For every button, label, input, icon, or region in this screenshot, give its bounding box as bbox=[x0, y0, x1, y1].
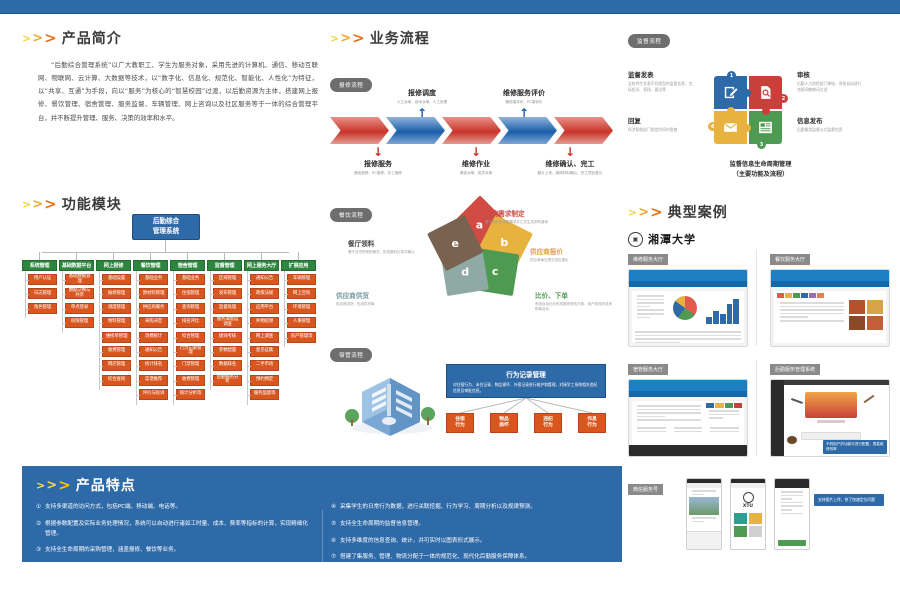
tree-item[interactable]: 数据排名 bbox=[213, 360, 242, 371]
case-tag-4: 后勤服务管理系统 bbox=[770, 364, 820, 375]
tree-item[interactable]: 人事管理 bbox=[287, 317, 316, 328]
flow-bottom-title-3: 维修确认、完工 bbox=[520, 159, 620, 169]
wechat-phone-1[interactable] bbox=[686, 478, 722, 550]
petal-title-b: 供应商报价 bbox=[530, 246, 608, 256]
tree-column-items: 用户认证日志管理角色管理 bbox=[28, 274, 57, 317]
tree-item[interactable]: 权限管理 bbox=[65, 317, 94, 328]
wechat-callout: 支持图片上传，修了快速定位问题 bbox=[814, 494, 884, 506]
feature-text: 根据参数配置及实际业务处理情况，系统可以自动进行诸如工时量、成本、费率等指标的计… bbox=[45, 520, 313, 540]
tree-root-line1: 后勤综合 bbox=[153, 217, 179, 227]
dorm-connector-lines bbox=[446, 398, 606, 414]
section-heading-cases: >>> 典型案例 bbox=[628, 202, 890, 222]
supervision-caption: 监督信息生命周期管理 （主要功能及流程） bbox=[628, 160, 893, 180]
wechat-phone-2[interactable]: XTU bbox=[730, 478, 766, 550]
feature-item: ⑥支持多维度的信息查询、统计，并可实时以图表形式展示。 bbox=[331, 537, 608, 547]
case-screenshot-3[interactable] bbox=[628, 379, 748, 457]
case-cell-1[interactable]: 维修服务大厅 bbox=[628, 246, 748, 347]
supervision-caption-1: 监督信息生命周期管理 bbox=[628, 160, 893, 170]
tree-item[interactable]: 角色管理 bbox=[28, 303, 57, 314]
flow-bottom-step-3: ↓ 维修确认、完工 照片上传、维修材料确认、完工项目登记 bbox=[520, 146, 620, 176]
tree-item[interactable]: 通知公告 bbox=[250, 274, 279, 285]
feature-text: 支持全生命周期的采购管理，涵盖报修、餐饮等业务。 bbox=[45, 546, 179, 556]
case-screenshot-2[interactable] bbox=[770, 269, 890, 347]
tree-item[interactable]: 采购决定 bbox=[139, 317, 168, 328]
tree-column-head[interactable]: 网上报修 bbox=[96, 260, 131, 271]
flow-top-title-2: 维修服务评价 bbox=[478, 88, 570, 98]
feature-item: ⑤支持全生命周期的监督信息管理。 bbox=[331, 520, 608, 530]
supervision-title-4: 回复 bbox=[628, 116, 694, 125]
petal-sub-d: 供应商供货，形成供货单 bbox=[336, 302, 414, 307]
tree-column-head[interactable]: 基础数据平台 bbox=[59, 260, 94, 271]
supervision-section: 监督流程 bbox=[628, 28, 890, 48]
petal-shapes: abcde bbox=[425, 218, 535, 323]
flow-chevron-row bbox=[330, 117, 620, 144]
tree-column-head[interactable]: 餐饮管理 bbox=[133, 260, 168, 271]
tree-item[interactable]: 综合查询 bbox=[102, 375, 131, 386]
features-section: >>> 产品特点 ①支持多渠道的访问方式，包括PC端、移动端、电话等。②根据参数… bbox=[22, 466, 622, 562]
feature-number: ① bbox=[36, 503, 41, 513]
supervision-sub-4: 所涉职能部门规定时间内答复 bbox=[628, 127, 694, 133]
feature-number: ⑥ bbox=[331, 537, 336, 547]
page-title: 产品简介 bbox=[62, 28, 122, 48]
flow-bottom-sub-2: 微信派单、成员派单 bbox=[426, 171, 526, 176]
tree-item[interactable]: 服务满意度调查 bbox=[213, 317, 242, 328]
badge-supervision-flow: 监督流程 bbox=[628, 34, 670, 48]
wechat-brand: XTU bbox=[731, 504, 765, 509]
features-title: 产品特点 bbox=[76, 475, 136, 495]
petal-sub-c: 系统自动比价形成推荐采购方案，用户修改形成采购单自动 bbox=[535, 302, 613, 311]
tree-item[interactable]: 网上咨询 bbox=[287, 288, 316, 299]
tree-column-1: 系统管理用户认证日志管理角色管理 bbox=[22, 252, 57, 449]
dorm-flow-diagram: 宿管流程 行为记录管理 对住宿行为、未住记录、物品损坏、外宿记录进 bbox=[330, 342, 620, 447]
badge-catering-flow: 餐饮流程 bbox=[330, 208, 372, 222]
cases-title: 典型案例 bbox=[668, 202, 728, 222]
tree-item[interactable]: 单点登录 bbox=[65, 303, 94, 314]
repair-flow-diagram: 报修流程 报修调度 人工派单、自动派单、人工处理 ↑ 维修服务评价 微信端评价、… bbox=[330, 72, 620, 182]
flow-chevron-2 bbox=[386, 117, 445, 144]
tree-item[interactable]: 失物招领 bbox=[250, 317, 279, 328]
case-screenshot-grid: 维修服务大厅 餐饮服务大厅 bbox=[628, 246, 890, 466]
flow-bottom-sub-1: 微信报修、PC报修、手工报修 bbox=[328, 171, 428, 176]
tree-column-stem bbox=[261, 252, 262, 260]
features-divider bbox=[322, 510, 323, 598]
chevron-icon: >>> bbox=[22, 197, 57, 212]
supervision-title-1: 监督发表 bbox=[628, 70, 694, 79]
dorm-leaf-4[interactable]: 作息行为 bbox=[578, 413, 606, 433]
tree-item[interactable]: 绩效考核 bbox=[213, 332, 242, 343]
tree-item[interactable]: 意见征集 bbox=[250, 346, 279, 357]
petal-title-d: 供应商供货 bbox=[336, 290, 414, 300]
dorm-leaf-3[interactable]: 违纪行为 bbox=[534, 413, 562, 433]
petal-label-d: 供应商供货供应商供货，形成供货单 bbox=[336, 290, 414, 307]
petal-title-c: 比价、下单 bbox=[535, 290, 613, 300]
flow-top-sub-2: 微信端评价、PC端评价 bbox=[478, 100, 570, 105]
university-seal-icon: ▣ bbox=[628, 232, 643, 247]
tree-column-items: 基础设置报修管理调度管理物料管理维修单管理收费管理网店管理综合查询 bbox=[102, 274, 131, 389]
mail-icon bbox=[722, 119, 739, 136]
tree-column-stem bbox=[76, 252, 77, 260]
arrow-down-icon: ↓ bbox=[426, 146, 526, 158]
university-logo: ▣ 湘潭大学 bbox=[628, 231, 890, 247]
dorm-record-box: 行为记录管理 对住宿行为、未住记录、物品损坏、外宿记录进行维护和管理，对接学工系… bbox=[446, 364, 606, 398]
tree-item[interactable]: 排名评比 bbox=[176, 317, 205, 328]
tree-column-head[interactable]: 网上服务大厅 bbox=[244, 260, 279, 271]
supervision-sub-3: 后勤服务监督公式监督信息 bbox=[797, 127, 863, 133]
supervision-text-1: 监督发表 全校师生发表不同类型的监督信息，包括投诉、表扬、建议等 bbox=[628, 70, 694, 92]
tree-item[interactable]: 基础业务 bbox=[176, 274, 205, 285]
building-illustration bbox=[342, 364, 437, 436]
case-cell-3[interactable]: 宿管服务大厅 bbox=[628, 356, 748, 457]
tree-column-4: 餐饮管理基础业务原材料管理供应商服务采购决定消费统计通知公告统计排名菜谱推荐评价… bbox=[133, 252, 168, 449]
cases-section: >>> 典型案例 ▣ 湘潭大学 bbox=[628, 202, 890, 247]
puzzle-number-2: 2 bbox=[779, 94, 788, 103]
tree-column-spine bbox=[210, 271, 211, 390]
process-section: >>> 业务流程 bbox=[330, 28, 620, 48]
tree-column-7: 网上服务大厅通知公告政策法规应用平台失物招领网上调查意见征集二手市场预约预定服务… bbox=[244, 252, 279, 449]
puzzle-number-3: 3 bbox=[757, 140, 766, 149]
arrow-down-icon: ↓ bbox=[520, 146, 620, 158]
petal-label-a: 采购需求制定餐厅按科定采购需求并汇总生成采购清单 bbox=[485, 208, 563, 225]
dorm-leaf-2[interactable]: 物品损坏 bbox=[490, 413, 518, 433]
tree-item[interactable]: 基础设置 bbox=[102, 274, 131, 285]
supervision-sub-2: 后勤人力质检部门审核，系统自动进行违规词敏感词过滤 bbox=[797, 81, 863, 92]
feature-item: ②根据参数配置及实际业务处理情况，系统可以自动进行诸如工时量、成本、费率等指标的… bbox=[36, 520, 313, 540]
supervision-text-2: 审核 后勤人力质检部门审核，系统自动进行违规词敏感词过滤 bbox=[797, 70, 863, 92]
tree-item[interactable]: 网店管理 bbox=[102, 360, 131, 371]
feature-text: 支持多渠道的访问方式，包括PC端、移动端、电话等。 bbox=[45, 503, 181, 513]
tree-root-node: 后勤综合 管理系统 bbox=[132, 214, 200, 240]
feature-text: 采集学生的日常行为数据，进行关联挖掘、行为学习、周期分析以及规律预测。 bbox=[340, 503, 536, 513]
tree-column-items: 基础数据管理数据交换与共享单点登录权限管理 bbox=[65, 274, 94, 332]
flow-top-step-1: 报修调度 人工派单、自动派单、人工处理 ↑ bbox=[376, 88, 468, 119]
petal-sub-a: 餐厅按科定采购需求并汇总生成采购清单 bbox=[485, 220, 563, 225]
chevron-icon: >>> bbox=[330, 31, 365, 46]
dorm-leaf-1[interactable]: 住宿行为 bbox=[446, 413, 474, 433]
case-screenshot-1[interactable] bbox=[628, 269, 748, 347]
tree-item[interactable]: 物料管理 bbox=[102, 317, 131, 328]
tree-item[interactable]: 监督处理 bbox=[213, 303, 242, 314]
supervision-title-2: 审核 bbox=[797, 70, 863, 79]
feature-number: ③ bbox=[36, 546, 41, 556]
flow-top-step-2: 维修服务评价 微信端评价、PC端评价 ↑ bbox=[478, 88, 570, 119]
tree-column-stem bbox=[113, 252, 114, 260]
flow-chevron-4 bbox=[498, 117, 557, 144]
tree-column-stem bbox=[39, 252, 40, 260]
chevron-icon: >>> bbox=[22, 31, 57, 46]
grid-divider-vertical-top bbox=[756, 250, 757, 346]
supervision-sub-1: 全校师生发表不同类型的监督信息，包括投诉、表扬、建议等 bbox=[628, 81, 694, 92]
feature-number: ② bbox=[36, 520, 41, 540]
supervision-text-3: 信息发布 后勤服务监督公式监督信息 bbox=[797, 116, 863, 133]
intro-paragraph: “后勤综合管理系统”以广大教职工、学生为服务对象，采用先进的计算机、通信、移动互… bbox=[22, 59, 322, 125]
modules-title: 功能模块 bbox=[62, 194, 122, 214]
tree-column-items: 通知公告政策法规应用平台失物招领网上调查意见征集二手市场预约预定服务监督等 bbox=[250, 274, 279, 404]
tree-root-line2: 管理系统 bbox=[153, 227, 179, 237]
pencil-icon bbox=[722, 84, 739, 101]
section-heading-modules: >>> 功能模块 bbox=[22, 194, 122, 214]
tree-item[interactable]: 调度管理 bbox=[102, 303, 131, 314]
poster-page: >>> 产品简介 “后勤综合管理系统”以广大教职工、学生为服务对象，采用先进的计… bbox=[0, 14, 900, 562]
tree-column-5: 宿舍管理基础业务住宿管理查询管理排名评比综合管理行为记录管理门禁管理收费管理统计… bbox=[170, 252, 205, 449]
puzzle-piece-3 bbox=[749, 111, 782, 144]
dorm-box-title: 行为记录管理 bbox=[453, 369, 599, 379]
case-callout-4: 不同用户的功能可进行配置，提高维修效率 bbox=[823, 440, 887, 454]
tree-item[interactable]: 预约预定 bbox=[250, 375, 279, 386]
flow-bottom-title-1: 报修服务 bbox=[328, 159, 428, 169]
tree-column-stem bbox=[298, 252, 299, 260]
tree-column-2: 基础数据平台基础数据管理数据交换与共享单点登录权限管理 bbox=[59, 252, 94, 449]
tree-item[interactable]: 菜谱推荐 bbox=[139, 375, 168, 386]
tree-column-3: 网上报修基础设置报修管理调度管理物料管理维修单管理收费管理网店管理综合查询 bbox=[96, 252, 131, 449]
tree-column-items: 区域管理发布管理监督处理服务满意度调查绩效考核参数配置数据排名后勤服务分析 bbox=[213, 274, 242, 389]
flow-bottom-sub-3: 照片上传、维修材料确认、完工项目登记 bbox=[520, 171, 620, 176]
tree-item[interactable]: 供应商服务 bbox=[139, 303, 168, 314]
wechat-section: 微信服务号 XTU bbox=[628, 476, 890, 556]
section-heading-intro: >>> 产品简介 bbox=[22, 28, 322, 48]
tree-item[interactable]: 后勤服务分析 bbox=[213, 375, 242, 386]
tree-item[interactable]: 基础业务 bbox=[139, 274, 168, 285]
tree-item[interactable]: 发布管理 bbox=[213, 288, 242, 299]
tree-item[interactable]: 统计排名 bbox=[139, 360, 168, 371]
tree-column-items: 基础业务住宿管理查询管理排名评比综合管理行为记录管理门禁管理收费管理统计分析等 bbox=[176, 274, 205, 404]
tree-item[interactable]: 收费管理 bbox=[176, 375, 205, 386]
tree-item[interactable]: 基础数据管理 bbox=[65, 274, 94, 285]
case-tag-2: 餐饮服务大厅 bbox=[770, 254, 810, 265]
puzzle-knob-top-4 bbox=[727, 107, 735, 115]
feature-item: ③支持全生命周期的采购管理，涵盖报修、餐饮等业务。 bbox=[36, 546, 313, 556]
features-column-right: ④采集学生的日常行为数据，进行关联挖掘、行为学习、周期分析以及规律预测。⑤支持全… bbox=[331, 503, 608, 570]
puzzle-knob-right-1 bbox=[743, 89, 751, 97]
case-tag-1: 维修服务大厅 bbox=[628, 254, 668, 265]
tree-root-stem bbox=[165, 240, 166, 252]
tree-item[interactable]: 日志管理 bbox=[28, 288, 57, 299]
flow-bottom-step-2: ↓ 维修作业 微信派单、成员派单 bbox=[426, 146, 526, 176]
puzzle-number-4: 4 bbox=[708, 122, 717, 131]
puzzle-knob-bottom-2 bbox=[762, 107, 770, 115]
tree-item[interactable]: 维修单管理 bbox=[102, 332, 131, 343]
case-screenshot-4[interactable]: 不同用户的功能可进行配置，提高维修效率 bbox=[770, 379, 890, 457]
tree-item[interactable]: 住宿管理 bbox=[176, 288, 205, 299]
tree-item[interactable]: 统计分析等 bbox=[176, 389, 205, 400]
intro-section: >>> 产品简介 “后勤综合管理系统”以广大教职工、学生为服务对象，采用先进的计… bbox=[22, 28, 322, 125]
flow-bottom-step-1: ↓ 报修服务 微信报修、PC报修、手工报修 bbox=[328, 146, 428, 176]
tree-item[interactable]: 评价与投诉 bbox=[139, 389, 168, 400]
tree-item[interactable]: 网上调查 bbox=[250, 332, 279, 343]
search-doc-icon bbox=[757, 84, 774, 101]
tree-item[interactable]: 原材料管理 bbox=[139, 288, 168, 299]
case-cell-4[interactable]: 后勤服务管理系统 不同用户的功能可进行配置，提高维修效率 bbox=[770, 356, 890, 457]
tree-column-items: 车辆管理网上咨询环境管理人事管理房产管理等 bbox=[287, 274, 316, 346]
petal-sub-b: 供应商每日提交供应报价 bbox=[530, 258, 608, 263]
wechat-phone-3[interactable] bbox=[774, 478, 810, 550]
tree-item[interactable]: 消费统计 bbox=[139, 332, 168, 343]
section-heading-features: >>> 产品特点 bbox=[36, 475, 608, 495]
tree-column-head[interactable]: 扩展应用 bbox=[281, 260, 316, 271]
petal-title-e: 餐厅领料 bbox=[348, 238, 426, 248]
university-name: 湘潭大学 bbox=[648, 231, 696, 247]
flow-top-sub-1: 人工派单、自动派单、人工处理 bbox=[376, 100, 468, 105]
petal-sub-e: 餐厅对货物采购情况，形成原料记录并确认 bbox=[348, 250, 426, 255]
petal-label-e: 餐厅领料餐厅对货物采购情况，形成原料记录并确认 bbox=[348, 238, 426, 255]
tree-item[interactable]: 数据交换与共享 bbox=[65, 288, 94, 299]
features-column-left: ①支持多渠道的访问方式，包括PC端、移动端、电话等。②根据参数配置及实际业务处理… bbox=[36, 503, 313, 570]
tree-item[interactable]: 环境管理 bbox=[287, 303, 316, 314]
tree-column-6: 监督管理区域管理发布管理监督处理服务满意度调查绩效考核参数配置数据排名后勤服务分… bbox=[207, 252, 242, 449]
feature-text: 支持全生命周期的监督信息管理。 bbox=[340, 520, 424, 530]
petal-label-c: 比价、下单系统自动比价形成推荐采购方案，用户修改形成采购单自动 bbox=[535, 290, 613, 311]
supervision-caption-2: （主要功能及流程） bbox=[628, 170, 893, 180]
tree-column-spine bbox=[99, 271, 100, 390]
tree-column-8: 扩展应用车辆管理网上咨询环境管理人事管理房产管理等 bbox=[281, 252, 316, 449]
tree-item[interactable]: 报修管理 bbox=[102, 288, 131, 299]
feature-number: ④ bbox=[331, 503, 336, 513]
puzzle-piece-2 bbox=[749, 76, 782, 109]
case-tag-3: 宿管服务大厅 bbox=[628, 364, 668, 375]
flow-top-title-1: 报修调度 bbox=[376, 88, 468, 98]
chevron-icon: >>> bbox=[36, 478, 71, 493]
tree-item[interactable]: 服务监督等 bbox=[250, 389, 279, 400]
tree-item[interactable]: 收费管理 bbox=[102, 346, 131, 357]
module-tree-diagram: 后勤综合 管理系统 系统管理用户认证日志管理角色管理基础数据平台基础数据管理数据… bbox=[22, 214, 324, 449]
flow-chevron-1 bbox=[330, 117, 389, 144]
dorm-leaf-row: 住宿行为物品损坏违纪行为作息行为 bbox=[446, 413, 606, 433]
dorm-box-body: 对住宿行为、未住记录、物品损坏、外宿记录进行维护和管理，对接学工系统相关违纪信息… bbox=[453, 382, 599, 393]
tree-column-head[interactable]: 宿舍管理 bbox=[170, 260, 205, 271]
flow-bottom-title-2: 维修作业 bbox=[426, 159, 526, 169]
petal-title-a: 采购需求制定 bbox=[485, 208, 563, 218]
chevron-icon: >>> bbox=[628, 205, 663, 220]
tree-column-items: 基础业务原材料管理供应商服务采购决定消费统计通知公告统计排名菜谱推荐评价与投诉 bbox=[139, 274, 168, 404]
feature-item: ①支持多渠道的访问方式，包括PC端、移动端、电话等。 bbox=[36, 503, 313, 513]
puzzle-number-1: 1 bbox=[727, 71, 736, 80]
tree-item[interactable]: 查询管理 bbox=[176, 303, 205, 314]
tree-item[interactable]: 综合管理 bbox=[176, 332, 205, 343]
tree-column-stem bbox=[187, 252, 188, 260]
tree-item[interactable]: 应用平台 bbox=[250, 303, 279, 314]
tree-item[interactable]: 区域管理 bbox=[213, 274, 242, 285]
supervision-puzzle-diagram: 1 2 3 4 监督发表 全校师生发表不同类型的监督信息，包括投诉、表扬、建议等… bbox=[628, 64, 893, 182]
grid-divider-vertical-bottom bbox=[756, 360, 757, 456]
tree-item[interactable]: 房产管理等 bbox=[287, 332, 316, 343]
tree-item[interactable]: 政策法规 bbox=[250, 288, 279, 299]
section-heading-process: >>> 业务流程 bbox=[330, 28, 620, 48]
tree-item[interactable]: 门禁管理 bbox=[176, 360, 205, 371]
process-title: 业务流程 bbox=[370, 28, 430, 48]
tree-column-stem bbox=[150, 252, 151, 260]
flow-chevron-3 bbox=[442, 117, 501, 144]
feature-text: 支持多维度的信息查询、统计，并可实时以图表形式展示。 bbox=[340, 537, 485, 547]
tree-item[interactable]: 用户认证 bbox=[28, 274, 57, 285]
tree-column-head[interactable]: 监督管理 bbox=[207, 260, 242, 271]
supervision-title-3: 信息发布 bbox=[797, 116, 863, 125]
feature-item: ④采集学生的日常行为数据，进行关联挖掘、行为学习、周期分析以及规律预测。 bbox=[331, 503, 608, 513]
wechat-tag: 微信服务号 bbox=[628, 484, 663, 495]
tree-item[interactable]: 车辆管理 bbox=[287, 274, 316, 285]
tree-item[interactable]: 通知公告 bbox=[139, 346, 168, 357]
badge-repair-flow: 报修流程 bbox=[330, 78, 372, 92]
tree-item[interactable]: 二手市场 bbox=[250, 360, 279, 371]
tree-column-head[interactable]: 系统管理 bbox=[22, 260, 57, 271]
supervision-text-4: 回复 所涉职能部门规定时间内答复 bbox=[628, 116, 694, 133]
feature-number: ⑤ bbox=[331, 520, 336, 530]
tree-item[interactable]: 行为记录管理 bbox=[176, 346, 205, 357]
tree-columns: 系统管理用户认证日志管理角色管理基础数据平台基础数据管理数据交换与共享单点登录权… bbox=[22, 252, 324, 449]
catering-flow-diagram: 餐饮流程 abcde 采购需求制定餐厅按科定采购需求并汇总生成采购清单供应商报价… bbox=[330, 202, 620, 334]
flow-chevron-5 bbox=[554, 117, 613, 144]
case-cell-2[interactable]: 餐饮服务大厅 bbox=[770, 246, 890, 347]
petal-label-b: 供应商报价供应商每日提交供应报价 bbox=[530, 246, 608, 263]
top-accent-bar bbox=[0, 0, 900, 13]
tree-item[interactable]: 参数配置 bbox=[213, 346, 242, 357]
badge-dorm-flow: 宿管流程 bbox=[330, 348, 372, 362]
tree-column-stem bbox=[224, 252, 225, 260]
puzzle-knob-right-4 bbox=[743, 124, 751, 132]
news-icon bbox=[757, 119, 774, 136]
arrow-down-icon: ↓ bbox=[328, 146, 428, 158]
